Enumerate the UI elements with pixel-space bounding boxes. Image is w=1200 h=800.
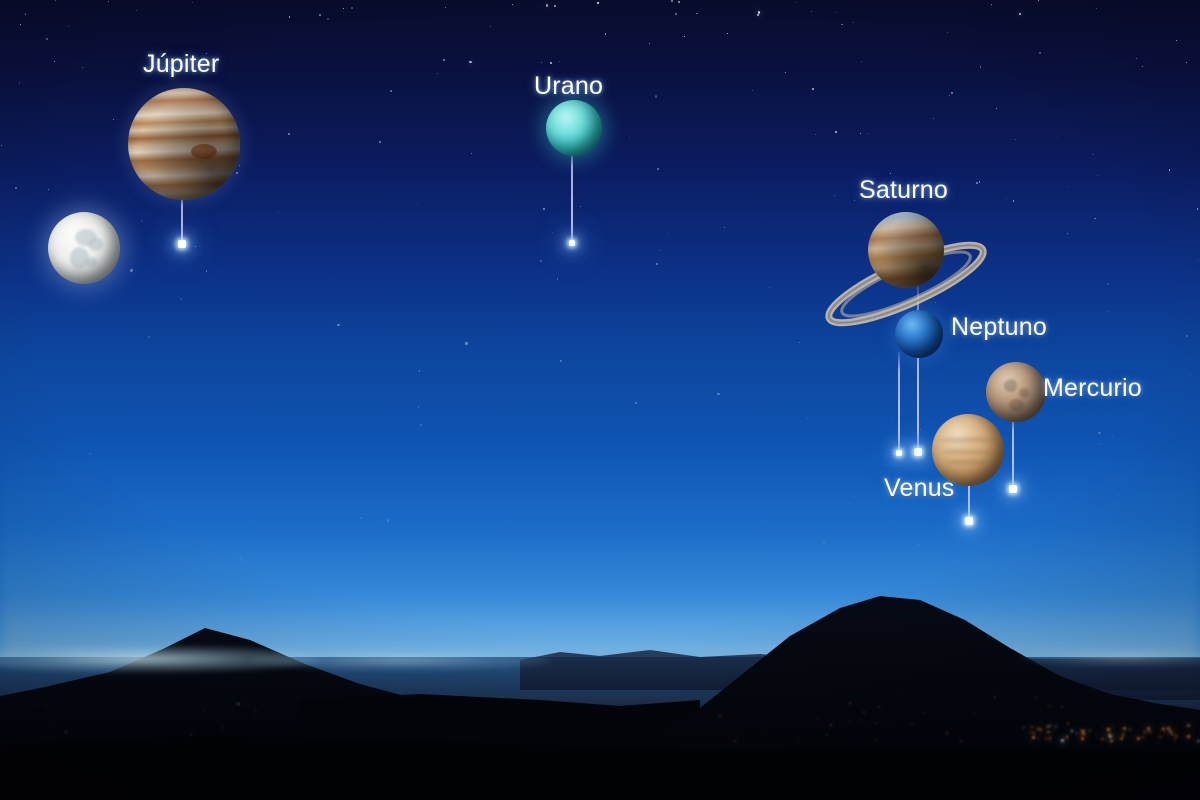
label-venus: Venus	[884, 474, 955, 503]
label-uranus: Urano	[534, 72, 603, 101]
label-mercury: Mercurio	[1043, 374, 1142, 403]
label-neptune: Neptuno	[951, 313, 1047, 342]
night-sky-scene: Júpiter Urano Saturno Neptuno Mercurio V…	[0, 0, 1200, 800]
label-saturn: Saturno	[859, 176, 948, 205]
saturn-limb	[868, 212, 944, 288]
label-jupiter: Júpiter	[143, 50, 219, 79]
vignette-overlay	[0, 0, 1200, 800]
planet-saturn[interactable]	[868, 212, 944, 288]
